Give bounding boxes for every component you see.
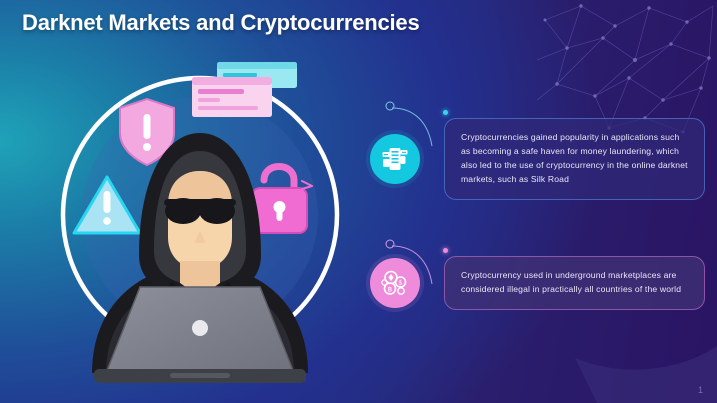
hacker-illustration: [44, 55, 356, 385]
point-row-2: $ ฿ Cryptocurrency used in underground m…: [370, 256, 705, 310]
page-number: 1: [698, 385, 703, 395]
svg-text:$: $: [398, 279, 402, 287]
point-text-1: Cryptocurrencies gained popularity in ap…: [461, 132, 688, 184]
network-decoration: [537, 0, 717, 135]
point-card-2: Cryptocurrency used in underground marke…: [444, 256, 705, 310]
slide: Darknet Markets and Cryptocurrencies: [0, 0, 717, 403]
browser-window-pink: [192, 77, 272, 117]
point-row-1: Cryptocurrencies gained popularity in ap…: [370, 118, 705, 200]
corner-facet-decoration: [557, 328, 717, 403]
point-card-1: Cryptocurrencies gained popularity in ap…: [444, 118, 705, 200]
page-title: Darknet Markets and Cryptocurrencies: [22, 10, 420, 36]
svg-text:฿: ฿: [388, 285, 392, 293]
mobile-payment-glyph: [380, 144, 410, 174]
crypto-coins-icon[interactable]: $ ฿: [370, 258, 420, 308]
crypto-coins-glyph: $ ฿: [380, 268, 410, 298]
point-text-2: Cryptocurrency used in underground marke…: [461, 270, 681, 294]
card-dot-2: [443, 248, 448, 253]
mobile-payment-icon[interactable]: [370, 134, 420, 184]
card-dot-1: [443, 110, 448, 115]
